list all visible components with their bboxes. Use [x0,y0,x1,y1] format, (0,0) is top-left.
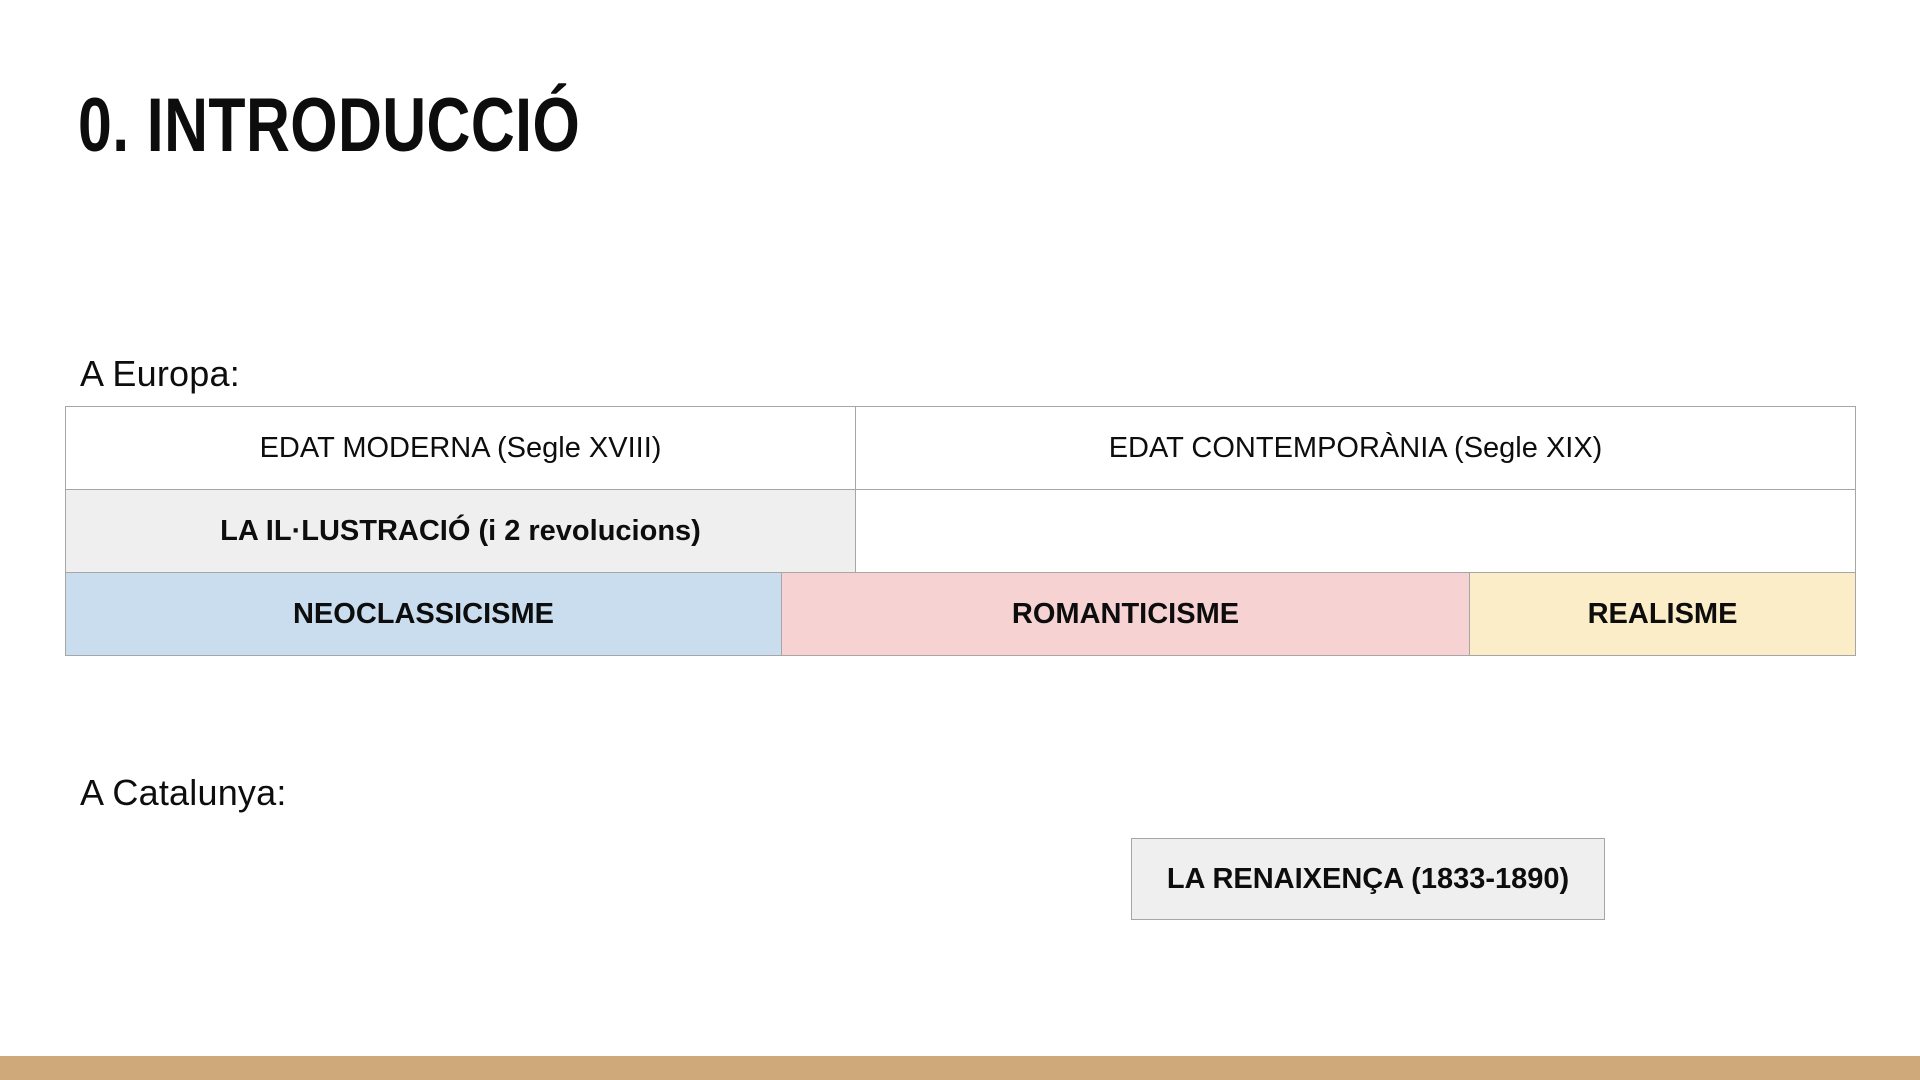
cell-la-illustracio: LA IL·LUSTRACIÓ (i 2 revolucions) [66,490,856,573]
cell-romanticisme: ROMANTICISME [782,573,1470,656]
table-row-movement: LA IL·LUSTRACIÓ (i 2 revolucions) [66,490,1856,573]
bottom-accent-bar [0,1056,1920,1080]
renaixenca-box: LA RENAIXENÇA (1833-1890) [1131,838,1605,920]
cell-realisme: REALISME [1470,573,1856,656]
table-row-eras: EDAT MODERNA (Segle XVIII) EDAT CONTEMPO… [66,407,1856,490]
cell-edat-moderna: EDAT MODERNA (Segle XVIII) [66,407,856,490]
section-label-europa: A Europa: [80,353,240,395]
section-label-catalunya: A Catalunya: [80,772,287,814]
table-row-styles: NEOCLASSICISME ROMANTICISME REALISME [66,573,1856,656]
cell-movement-empty [856,490,1856,573]
cell-neoclassicisme: NEOCLASSICISME [66,573,782,656]
cell-edat-contemporania: EDAT CONTEMPORÀNIA (Segle XIX) [856,407,1856,490]
page-title: 0. INTRODUCCIÓ [78,88,580,164]
europe-timeline-table: EDAT MODERNA (Segle XVIII) EDAT CONTEMPO… [65,406,1856,656]
